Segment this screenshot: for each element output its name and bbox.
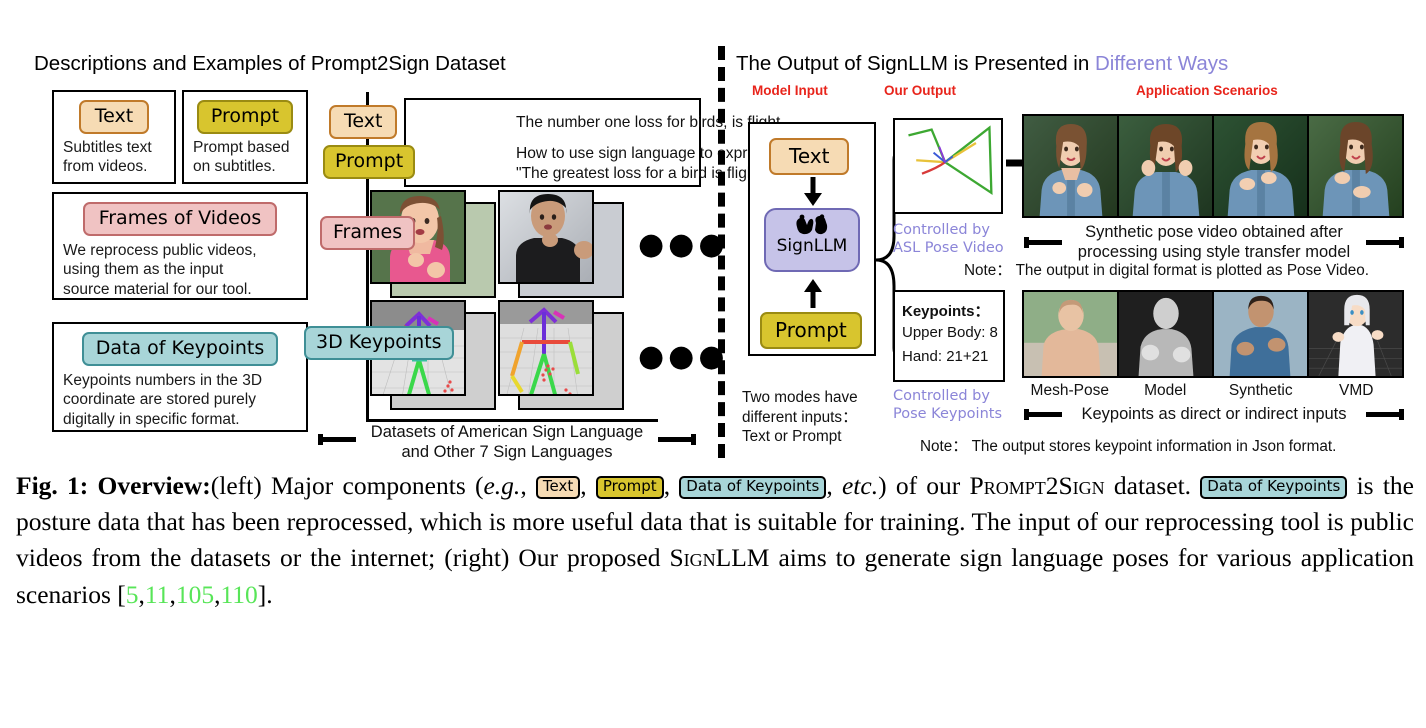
control-line2: ASL Pose Video xyxy=(893,240,1004,258)
pill-text: Text xyxy=(79,100,149,134)
pose-plot-output xyxy=(893,118,1003,214)
scenarios-bottom-bracket-caption: Keypoints as direct or indirect inputs xyxy=(1062,404,1366,424)
arrow-down-icon-1 xyxy=(802,177,824,207)
component-desc-keypoints: Keypoints numbers in the 3Dcoordinate ar… xyxy=(63,371,300,429)
component-desc-frames: We reprocess public videos,using them as… xyxy=(63,241,300,299)
right-title-accent: Different Ways xyxy=(1095,52,1228,75)
pose-skeleton-2 xyxy=(500,302,594,396)
keypoints-thumbnail-stack-2 xyxy=(498,300,628,412)
keypoints-row-upper-body: Upper Body: 8 xyxy=(902,324,998,341)
caption-fig-label: Fig. 1: xyxy=(16,471,88,500)
caption-ref-1: 11 xyxy=(145,580,170,609)
scenario-frame-2 xyxy=(1117,116,1212,216)
sublabel-model-input: Model Input xyxy=(752,83,828,98)
caption-segment-3: ) of our xyxy=(878,471,969,500)
pill-input-text: Text xyxy=(769,138,849,175)
note-keypoints-json: Note： The output stores keypoint informa… xyxy=(920,434,1336,456)
keypoints-control-note: Controlled by Pose Keypoints xyxy=(893,388,1002,423)
pill-data-of-keypoints: Data of Keypoints xyxy=(82,332,279,366)
application-scenarios-top-strip xyxy=(1022,114,1404,218)
caption-model-name: SignLLM xyxy=(669,543,769,572)
caption-dataset-name: Prompt2Sign xyxy=(970,471,1105,500)
caption-ref-0: 5 xyxy=(126,580,139,609)
caption-segment-4: dataset. xyxy=(1105,471,1201,500)
bracket-caption-line1: Datasets of American Sign Language xyxy=(371,423,643,441)
sign-hands-icon xyxy=(794,214,830,236)
pose-plot-svg xyxy=(895,120,1001,212)
control-line1: Controlled by xyxy=(893,388,1002,406)
caption-pill-keypoints: Data of Keypoints xyxy=(679,476,826,499)
grey-model-render xyxy=(1119,292,1212,376)
bracket-left xyxy=(318,437,356,442)
component-tag-wrap: Frames of Videos xyxy=(54,202,306,236)
control-line2: Pose Keypoints xyxy=(893,406,1002,424)
pill-input-prompt: Prompt xyxy=(760,312,862,349)
component-box-prompt: Prompt Prompt basedon subtitles. xyxy=(182,90,308,184)
pill-prompt: Prompt xyxy=(197,100,293,134)
scenario-label-2: Synthetic xyxy=(1213,382,1309,400)
modes-line2: different inputs： xyxy=(742,408,858,428)
caption-segment-7: ]. xyxy=(258,580,273,609)
application-scenarios-bottom-strip xyxy=(1022,290,1404,378)
pill-text-example: Text xyxy=(329,105,397,139)
bracket-right-scenarios-top xyxy=(1366,240,1404,245)
caption-pill-keypoints-2: Data of Keypoints xyxy=(1200,476,1347,499)
synthetic-signer-3 xyxy=(1214,116,1307,216)
component-tag-wrap: Prompt xyxy=(184,100,306,134)
keypoints-row-hand: Hand: 21+21 xyxy=(902,348,988,365)
scenario-label-3: VMD xyxy=(1309,382,1405,400)
scenario-frame-3 xyxy=(1212,116,1307,216)
arrow-up-icon-1 xyxy=(802,278,824,308)
component-tag-wrap: Data of Keypoints xyxy=(54,332,306,366)
left-figure-panel: Descriptions and Examples of Prompt2Sign… xyxy=(0,0,712,466)
component-box-text: Text Subtitles textfrom videos. xyxy=(52,90,176,184)
caption-pill-prompt: Prompt xyxy=(596,476,664,499)
bracket-caption-line2: and Other 7 Sign Languages xyxy=(402,443,613,461)
bracket-left-scenarios-top xyxy=(1024,240,1062,245)
dataset-bracket-caption: Datasets of American Sign Language and O… xyxy=(358,422,656,462)
signllm-box: SignLLM xyxy=(764,208,860,272)
caption-segment-1: (left) Major components ( xyxy=(211,471,484,500)
synthetic-signer-2 xyxy=(1119,116,1212,216)
component-desc-prompt: Prompt basedon subtitles. xyxy=(193,138,300,177)
component-box-keypoints: Data of Keypoints Keypoints numbers in t… xyxy=(52,322,308,432)
model-input-box: Text SignLLM Prompt xyxy=(748,122,876,356)
vmd-avatar-render xyxy=(1309,292,1402,376)
mesh-pose-render xyxy=(1024,292,1117,376)
scen-top-caption-line1: Synthetic pose video obtained after xyxy=(1085,223,1343,241)
sublabel-our-output: Our Output xyxy=(884,83,956,98)
example-text-prompt-box: The number one loss for birds, is flight… xyxy=(404,98,701,187)
right-title-prefix: The Output of SignLLM is Presented in xyxy=(736,52,1095,75)
modes-description: Two modes have different inputs： Text or… xyxy=(742,388,858,447)
left-panel-title: Descriptions and Examples of Prompt2Sign… xyxy=(34,52,506,76)
pill-frames-of-videos: Frames of Videos xyxy=(83,202,278,236)
synthetic-signer-1 xyxy=(1024,116,1117,216)
component-tag-wrap: Text xyxy=(54,100,174,134)
caption-etc: etc. xyxy=(842,471,878,500)
caption-ref-3: 110 xyxy=(220,580,257,609)
synthetic-person-render xyxy=(1214,292,1307,376)
frames-thumbnail-stack-2 xyxy=(498,190,628,300)
scenario-synthetic xyxy=(1212,292,1307,376)
scenario-label-1: Model xyxy=(1118,382,1214,400)
synthetic-signer-4 xyxy=(1309,116,1402,216)
scenario-mesh-pose xyxy=(1024,292,1117,376)
keypoints-output-box: Keypoints： Upper Body: 8 Hand: 21+21 xyxy=(893,290,1005,382)
scenario-frame-1 xyxy=(1024,116,1117,216)
scenario-vmd xyxy=(1307,292,1402,376)
right-panel-title: The Output of SignLLM is Presented in Di… xyxy=(736,52,1228,76)
scenario-labels-row: Mesh-Pose Model Synthetic VMD xyxy=(1022,382,1404,400)
caption-fig-title: Overview: xyxy=(98,471,211,500)
frame-person-2 xyxy=(500,192,594,284)
bracket-left-scenarios-bottom xyxy=(1024,412,1062,417)
bracket-right xyxy=(658,437,696,442)
pill-prompt-example: Prompt xyxy=(323,145,415,179)
bracket-right-scenarios-bottom xyxy=(1366,412,1404,417)
note-pose-video: Note： The output in digital format is pl… xyxy=(964,258,1369,280)
scenario-model xyxy=(1117,292,1212,376)
connector-spine xyxy=(366,92,369,422)
caption-eg: e.g. xyxy=(483,471,520,500)
caption-ref-2: 105 xyxy=(176,580,214,609)
component-desc-text: Subtitles textfrom videos. xyxy=(63,138,168,177)
modes-line1: Two modes have xyxy=(742,388,858,408)
signllm-label: SignLLM xyxy=(766,238,858,255)
figure-caption: Fig. 1: Overview:(left) Major components… xyxy=(16,468,1414,613)
scenarios-top-bracket-caption: Synthetic pose video obtained after proc… xyxy=(1062,222,1366,262)
control-line1: Controlled by xyxy=(893,222,1004,240)
scenario-frame-4 xyxy=(1307,116,1402,216)
scen-bot-caption: Keypoints as direct or indirect inputs xyxy=(1081,405,1346,423)
caption-segment-2: , xyxy=(520,471,536,500)
pill-frames-label: Frames xyxy=(320,216,415,250)
pill-3d-keypoints-label: 3D Keypoints xyxy=(304,326,454,360)
pose-video-control-note: Controlled by ASL Pose Video xyxy=(893,222,1004,257)
component-box-frames: Frames of Videos We reprocess public vid… xyxy=(52,192,308,300)
modes-line3: Text or Prompt xyxy=(742,427,858,447)
keypoints-title: Keypoints： xyxy=(902,300,990,321)
scenario-label-0: Mesh-Pose xyxy=(1022,382,1118,400)
caption-pill-text: Text xyxy=(536,476,580,499)
sublabel-application-scenarios: Application Scenarios xyxy=(1136,83,1278,98)
